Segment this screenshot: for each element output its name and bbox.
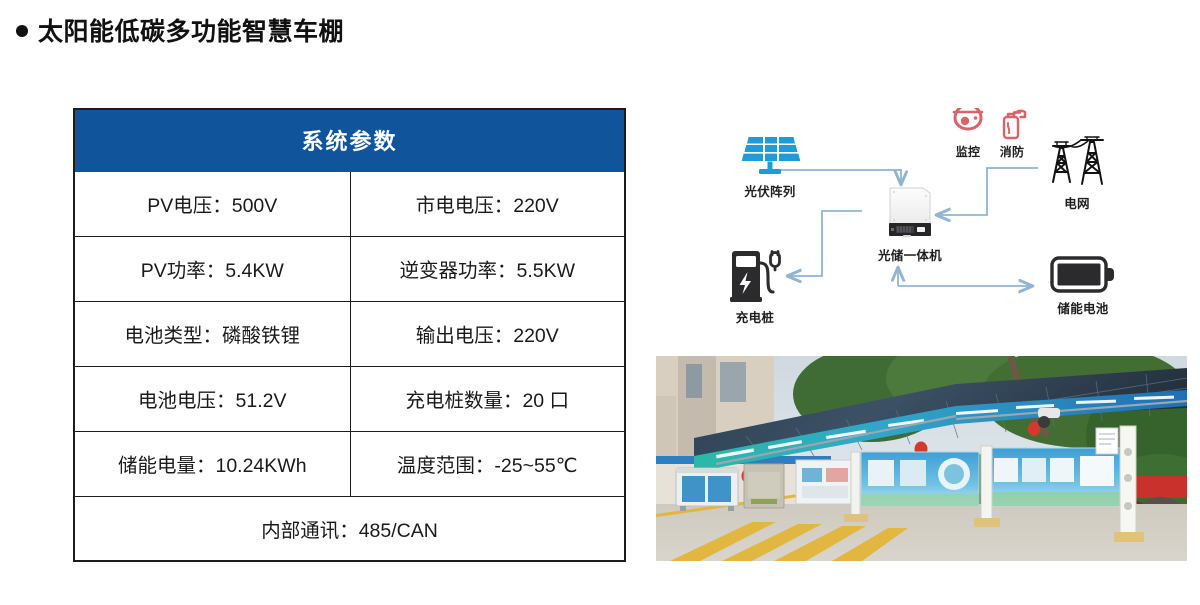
diagram-node-grid: 电网	[1018, 136, 1136, 212]
solar-panel-icon	[740, 134, 800, 178]
cell-charger-count: 充电桩数量：20 口	[350, 366, 625, 431]
cell-pv-power: PV功率：5.4KW	[74, 236, 350, 301]
system-flow-diagram: 光伏阵列	[650, 100, 1200, 350]
diagram-node-battery: 储能电池	[1028, 255, 1138, 317]
diagram-label-battery: 储能电池	[1057, 298, 1108, 317]
fire-extinguisher-icon	[995, 108, 1029, 140]
cell-output-voltage: 输出电压：220V	[350, 301, 625, 366]
dome-camera-icon	[950, 108, 986, 140]
solar-carport-photo	[656, 356, 1187, 561]
table-row: 电池类型：磷酸铁锂 输出电压：220V	[74, 301, 625, 366]
power-tower-icon	[1044, 136, 1110, 190]
table-row: PV功率：5.4KW 逆变器功率：5.5KW	[74, 236, 625, 301]
carport-photo-image	[656, 356, 1187, 561]
diagram-node-monitor: 监控	[947, 108, 989, 160]
cell-battery-voltage: 电池电压：51.2V	[74, 366, 350, 431]
diagram-node-pv: 光伏阵列	[716, 134, 824, 200]
cell-temperature-range: 温度范围：-25~55℃	[350, 431, 625, 496]
diagram-label-charger: 充电桩	[736, 307, 774, 326]
diagram-node-charger: 充电桩	[710, 248, 800, 326]
diagram-node-fire: 消防	[991, 108, 1033, 160]
cell-inverter-power: 逆变器功率：5.5KW	[350, 236, 625, 301]
inverter-cabinet-icon	[887, 184, 933, 242]
cell-internal-comms: 内部通讯：485/CAN	[74, 496, 625, 561]
ev-charging-pile-icon	[726, 248, 784, 304]
diagram-node-inverter: 光储一体机	[855, 184, 965, 264]
filled-circle-bullet-icon	[16, 25, 28, 37]
battery-icon	[1050, 255, 1116, 295]
diagram-label-fire: 消防	[1000, 143, 1025, 160]
table-row: 电池电压：51.2V 充电桩数量：20 口	[74, 366, 625, 431]
page-title-text: 太阳能低碳多功能智慧车棚	[38, 12, 344, 48]
cell-storage-capacity: 储能电量：10.24KWh	[74, 431, 350, 496]
table-header-title: 系统参数	[74, 109, 625, 171]
diagram-label-pv: 光伏阵列	[744, 181, 795, 200]
table-row: PV电压：500V 市电电压：220V	[74, 171, 625, 236]
page-title: 太阳能低碳多功能智慧车棚	[16, 12, 344, 48]
diagram-label-grid: 电网	[1064, 193, 1090, 212]
cell-battery-type: 电池类型：磷酸铁锂	[74, 301, 350, 366]
diagram-label-inverter: 光储一体机	[878, 245, 942, 264]
system-parameters-table: 系统参数 PV电压：500V 市电电压：220V PV功率：5.4KW 逆变器功…	[73, 108, 626, 562]
cell-pv-voltage: PV电压：500V	[74, 171, 350, 236]
table-row: 内部通讯：485/CAN	[74, 496, 625, 561]
table-header-row: 系统参数	[74, 109, 625, 171]
cell-mains-voltage: 市电电压：220V	[350, 171, 625, 236]
table-row: 储能电量：10.24KWh 温度范围：-25~55℃	[74, 431, 625, 496]
diagram-label-monitor: 监控	[956, 143, 981, 160]
